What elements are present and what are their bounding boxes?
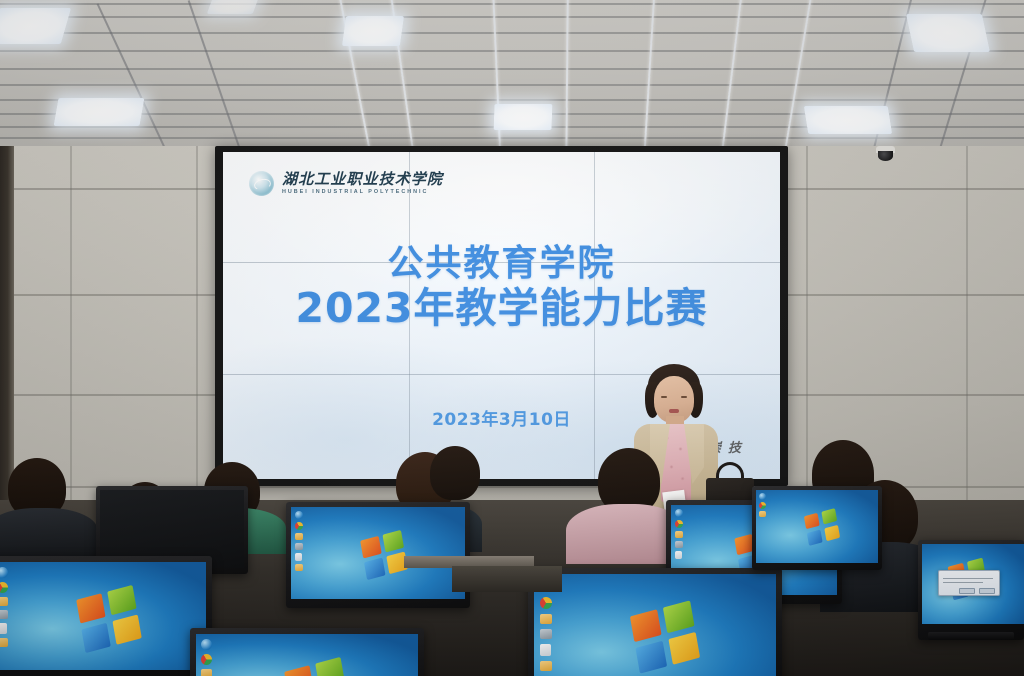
mon-right-small[interactable] [752, 486, 882, 570]
chrome-icon[interactable] [201, 654, 212, 665]
folder-icon[interactable] [0, 597, 8, 606]
mon-back-right-screen[interactable] [922, 544, 1024, 624]
folder-icon[interactable] [0, 638, 8, 647]
ceiling-light-panel [804, 106, 892, 134]
student-shoulders [0, 508, 98, 560]
computer-icon[interactable] [675, 541, 683, 548]
ok-button[interactable] [959, 588, 975, 594]
folder-icon[interactable] [675, 531, 683, 538]
desktop-icon-column[interactable] [201, 639, 212, 676]
cancel-button[interactable] [979, 588, 995, 594]
mon-front-right[interactable] [528, 568, 782, 676]
computer-icon[interactable] [295, 543, 303, 550]
mon-mid-left[interactable] [286, 502, 470, 608]
computer-icon[interactable] [0, 610, 8, 619]
chrome-icon[interactable] [675, 520, 683, 528]
ie-icon[interactable] [201, 639, 212, 650]
monitor-stand [928, 632, 1014, 640]
ie-icon[interactable] [295, 511, 303, 519]
windows-logo-icon [804, 508, 840, 546]
slide-title-line1: 公共教育学院 [223, 244, 780, 284]
desktop-icon-column[interactable] [759, 493, 766, 517]
computer-desk [452, 566, 562, 592]
dome-security-camera [876, 146, 895, 162]
chrome-icon[interactable] [295, 522, 303, 530]
mon-mid-left-screen[interactable] [291, 507, 465, 599]
desktop-icon-column[interactable] [675, 509, 683, 559]
mon-right-small-screen[interactable] [756, 490, 878, 563]
ceiling-light-panel [0, 8, 71, 44]
folder-icon[interactable] [759, 511, 766, 517]
school-name-cn: 湖北工业职业技术学院 [282, 172, 443, 188]
ie-icon[interactable] [0, 567, 8, 578]
windows-logo-icon [360, 530, 408, 580]
mon-front-center[interactable] [190, 628, 424, 676]
ceiling-light-panel [906, 14, 990, 52]
mon-front-right-screen[interactable] [534, 574, 776, 676]
mon-front-left[interactable] [0, 556, 212, 676]
mon-back-right[interactable] [918, 540, 1024, 640]
desktop-icon-column[interactable] [0, 567, 8, 647]
ceiling [0, 0, 1024, 152]
folder-icon[interactable] [540, 614, 552, 624]
windows-logo-icon [284, 657, 350, 676]
windows-logo-icon [630, 600, 700, 673]
desktop-icon-column[interactable] [540, 580, 552, 671]
mon-front-left-screen[interactable] [0, 562, 206, 670]
chrome-icon[interactable] [0, 582, 8, 593]
ceiling-light-panel [494, 104, 553, 130]
windows-logo-icon [76, 585, 142, 653]
ceiling-light-panel [207, 0, 260, 14]
classroom-photo-scene: 湖北工业职业技术学院 HUBEI INDUSTRIAL POLYTECHNIC … [0, 0, 1024, 676]
mon-front-center-screen[interactable] [196, 634, 418, 676]
ie-icon[interactable] [759, 493, 766, 500]
folder-icon[interactable] [540, 661, 552, 671]
folder-icon[interactable] [295, 533, 303, 540]
computer-icon[interactable] [540, 629, 552, 639]
ie-icon[interactable] [675, 509, 683, 517]
folder-icon[interactable] [201, 669, 212, 676]
school-emblem-icon [249, 171, 274, 196]
chrome-icon[interactable] [759, 502, 766, 509]
ceiling-light-panel [342, 16, 404, 46]
school-name-en: HUBEI INDUSTRIAL POLYTECHNIC [282, 190, 443, 196]
slide-title-block: 公共教育学院 2023年教学能力比赛 [223, 244, 780, 332]
system-dialog[interactable] [938, 570, 1000, 596]
student-head [430, 446, 480, 500]
desktop-icon-column[interactable] [295, 511, 303, 571]
text-file-icon[interactable] [540, 644, 551, 656]
text-file-icon[interactable] [295, 553, 302, 561]
chrome-icon[interactable] [540, 597, 552, 609]
text-file-icon[interactable] [0, 623, 7, 634]
ceiling-light-panel [54, 98, 145, 126]
folder-icon[interactable] [295, 564, 303, 571]
slide-title-line2: 2023年教学能力比赛 [223, 286, 780, 332]
school-logo: 湖北工业职业技术学院 HUBEI INDUSTRIAL POLYTECHNIC [249, 171, 443, 196]
text-file-icon[interactable] [675, 551, 682, 559]
